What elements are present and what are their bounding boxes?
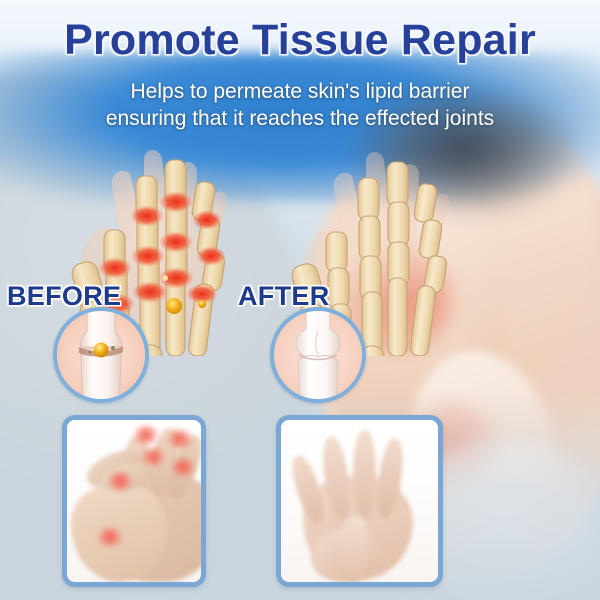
subtitle-line-1: Helps to permeate skin's lipid barrier [0,78,600,105]
photo-hand-healthy [281,420,438,582]
photo-hands-painful [67,420,201,582]
photo-panel-after [276,415,443,587]
poster: Promote Tissue Repair Helps to permeate … [0,0,600,600]
page-subtitle: Helps to permeate skin's lipid barrier e… [0,78,600,132]
joint-closeup-after [270,307,366,403]
joint-closeup-before [53,307,149,403]
photo-panel-before [62,415,206,587]
page-title: Promote Tissue Repair [0,16,600,65]
